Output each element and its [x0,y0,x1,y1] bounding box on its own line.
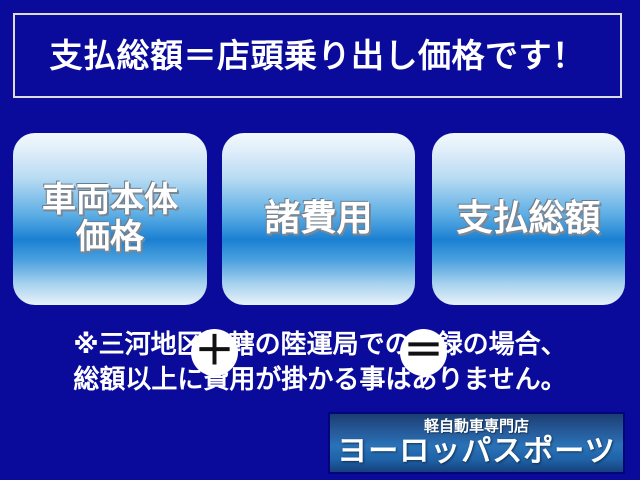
formula-box-vehicle-price-label: 車両本体 価格 [42,182,178,255]
footnote-text: ※三河地区管轄の陸運局での登録の場合、 総額以上に費用が掛かる事はありません。 [0,328,640,398]
formula-box-fees: 諸費用 [222,133,415,305]
headline-text: 支払総額＝店頭乗り出し価格です！ [50,39,586,72]
price-formula-row: 車両本体 価格 ＋ 諸費用 ＝ 支払総額 [0,133,640,305]
formula-box-fees-label: 諸費用 [264,200,372,239]
dealer-logo-plate: 軽自動車専門店 ヨーロッパスポーツ [328,412,625,474]
dealer-name: ヨーロッパスポーツ [337,437,615,467]
formula-box-total: 支払総額 [432,133,625,305]
headline-banner: 支払総額＝店頭乗り出し価格です！ [13,13,622,98]
formula-box-vehicle-price: 車両本体 価格 [13,133,207,305]
price-explanation-banner: { "colors": { "background": "#0b0b9b", "… [0,0,640,480]
equals-icon: ＝ [400,329,447,376]
plus-glyph: ＋ [195,331,235,371]
dealer-tagline: 軽自動車専門店 [424,419,529,434]
plus-icon: ＋ [191,329,238,376]
formula-box-total-label: 支払総額 [456,200,600,239]
equals-glyph: ＝ [404,331,444,371]
